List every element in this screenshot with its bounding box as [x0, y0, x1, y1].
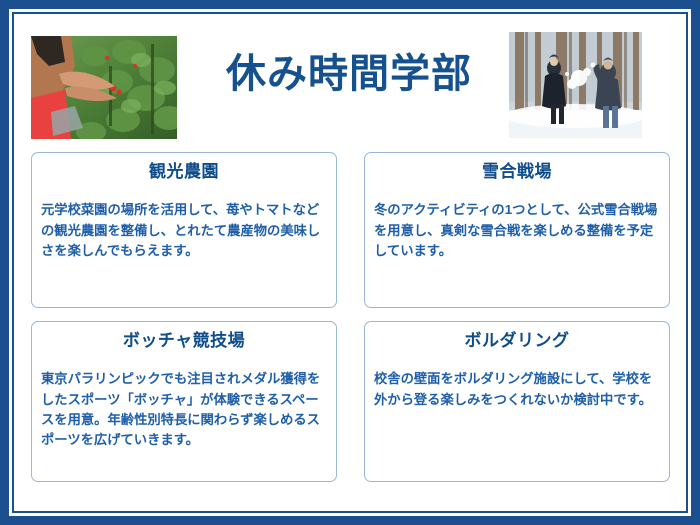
harvest-photo: [31, 36, 177, 139]
card-body: 東京パラリンピックでも注目されメダル獲得をしたスポーツ「ボッチャ」が体験できるス…: [41, 369, 327, 450]
card-title: 雪合戦場: [374, 162, 660, 182]
page-title: 休み時間学部: [194, 52, 504, 96]
card-body: 校舎の壁面をボルダリング施設にして、学校を外から登る楽しみをつくれないか検討中で…: [374, 369, 660, 409]
card-bouldering[interactable]: ボルダリング 校舎の壁面をボルダリング施設にして、学校を外から登る楽しみをつくれ…: [364, 321, 670, 482]
slide-root: 休み時間学部: [0, 0, 700, 525]
card-title: 観光農園: [41, 162, 327, 182]
slide-canvas: 休み時間学部: [14, 14, 686, 511]
card-body: 元学校菜園の場所を活用して、苺やトマトなどの観光農園を整備し、とれたて農産物の美…: [41, 200, 327, 261]
card-boccia-kyogijo[interactable]: ボッチャ競技場 東京パラリンピックでも注目されメダル獲得をしたスポーツ「ボッチャ…: [31, 321, 337, 482]
card-kanko-nouen[interactable]: 観光農園 元学校菜園の場所を活用して、苺やトマトなどの観光農園を整備し、とれたて…: [31, 152, 337, 308]
card-body: 冬のアクティビティの1つとして、公式雪合戦場を用意し、真剣な雪合戦を楽しめる整備…: [374, 200, 660, 261]
card-yukigassenjo[interactable]: 雪合戦場 冬のアクティビティの1つとして、公式雪合戦場を用意し、真剣な雪合戦を楽…: [364, 152, 670, 308]
slide-header: 休み時間学部: [14, 14, 686, 144]
snowball-photo: [509, 32, 642, 138]
card-title: ボルダリング: [374, 331, 660, 351]
card-title: ボッチャ競技場: [41, 331, 327, 351]
facility-card-grid: 観光農園 元学校菜園の場所を活用して、苺やトマトなどの観光農園を整備し、とれたて…: [14, 146, 686, 506]
